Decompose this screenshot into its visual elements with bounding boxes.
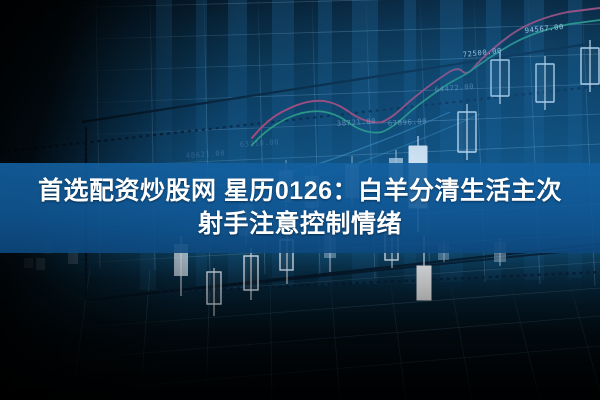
headline-line-2: 射手注意控制情绪 [198,210,402,240]
headline-line-1: 首选配资炒股网 星历0126：白羊分清生活主次 [38,177,562,207]
headline-text-block: 首选配资炒股网 星历0126：白羊分清生活主次 射手注意控制情绪 [0,163,600,253]
stock-banner-image: 94567.00 72500.00 64472.00 38721.00 6789… [0,0,600,400]
